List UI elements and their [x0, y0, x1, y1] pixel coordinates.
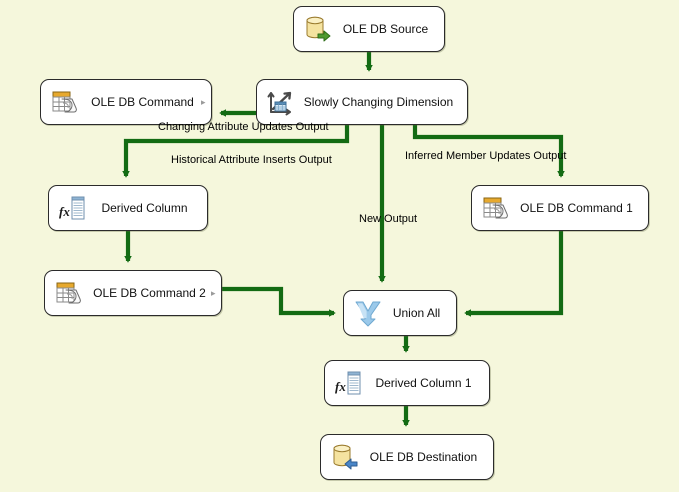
database-cylinder-blue-arrow-icon: [330, 442, 360, 472]
edge-ole-db-command-2-to-union-all: [222, 289, 334, 313]
connector-layer: [0, 0, 679, 492]
node-label: Slowly Changing Dimension: [300, 95, 467, 109]
chevron-right-icon[interactable]: ▸: [211, 289, 216, 297]
fx-document-icon: fx: [334, 368, 364, 398]
chevron-right-icon[interactable]: ▸: [201, 98, 206, 106]
scd-arrows-calendar-icon: [266, 87, 296, 117]
node-ole-db-source[interactable]: OLE DB Source: [293, 6, 445, 52]
fx-document-icon: fx: [58, 193, 88, 223]
edge-label-historical-attribute-inserts-output: Historical Attribute Inserts Output: [171, 154, 332, 166]
node-ole-db-destination[interactable]: OLE DB Destination: [320, 434, 494, 480]
node-slowly-changing-dimension[interactable]: Slowly Changing Dimension: [256, 79, 468, 125]
edge-ole-db-command-1-to-union-all: [466, 231, 561, 313]
node-label: OLE DB Source: [337, 22, 444, 36]
svg-text:fx: fx: [59, 204, 70, 219]
node-derived-column-1[interactable]: fx Derived Column 1: [324, 360, 490, 406]
union-merge-arrow-icon: [353, 298, 383, 328]
node-ole-db-command[interactable]: OLE DB Command ▸: [40, 79, 212, 125]
data-flow-canvas[interactable]: OLE DB Source OLE DB Command ▸: [0, 0, 679, 492]
edge-label-inferred-member-updates-output: Inferred Member Updates Output: [405, 150, 566, 162]
table-scroll-icon: [481, 193, 511, 223]
node-label: OLE DB Command 1: [515, 201, 648, 215]
table-scroll-icon: [54, 278, 84, 308]
svg-text:fx: fx: [335, 379, 346, 394]
node-union-all[interactable]: Union All: [343, 290, 457, 336]
node-label: Union All: [387, 306, 456, 320]
table-scroll-icon: [50, 87, 80, 117]
node-label: Derived Column: [92, 201, 207, 215]
database-cylinder-green-arrow-icon: [303, 14, 333, 44]
edge-label-new-output: New Output: [359, 213, 417, 225]
node-ole-db-command-1[interactable]: OLE DB Command 1: [471, 185, 649, 231]
node-label: OLE DB Destination: [364, 450, 493, 464]
node-label: Derived Column 1: [368, 376, 489, 390]
node-derived-column[interactable]: fx Derived Column: [48, 185, 208, 231]
node-label: OLE DB Command 2: [88, 286, 221, 300]
node-label: OLE DB Command: [84, 95, 211, 109]
node-ole-db-command-2[interactable]: OLE DB Command 2 ▸: [44, 270, 222, 316]
edge-label-changing-attribute-updates-output: Changing Attribute Updates Output: [158, 121, 329, 133]
